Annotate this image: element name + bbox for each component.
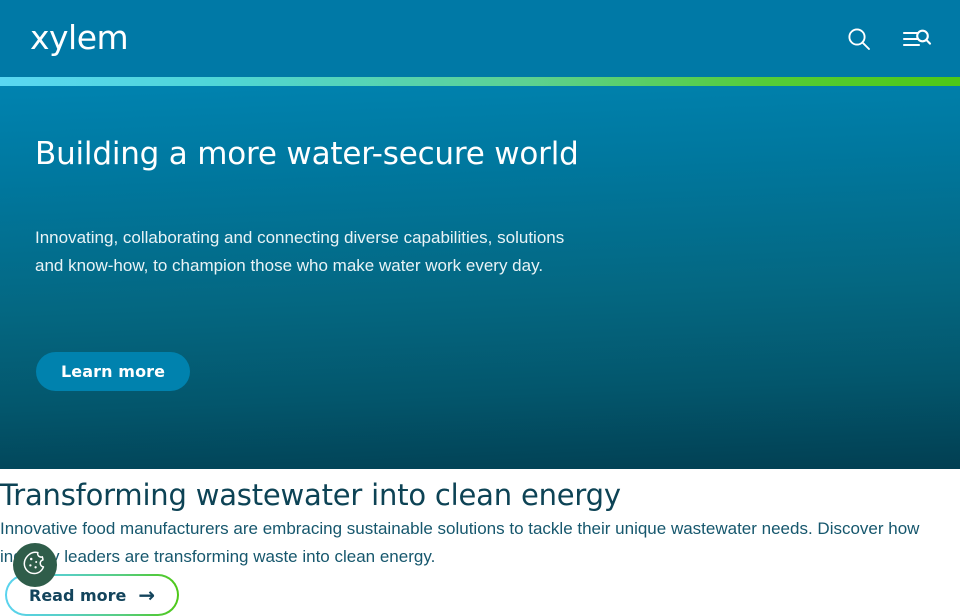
header-actions (838, 20, 938, 60)
read-more-label: Read more (29, 586, 126, 605)
menu-search-icon (902, 26, 932, 55)
brand-gradient-rule (0, 77, 960, 86)
search-button[interactable] (838, 20, 880, 60)
site-header: xylem (0, 0, 960, 77)
search-icon (846, 26, 872, 55)
learn-more-button[interactable]: Learn more (36, 352, 190, 391)
site-logo[interactable]: xylem (30, 19, 128, 57)
hero-banner: Building a more water-secure world Innov… (0, 86, 960, 469)
article-body-text: Innovative food manufacturers are embrac… (0, 515, 960, 571)
arrow-right-icon: → (138, 585, 155, 605)
menu-button[interactable] (896, 20, 938, 60)
hero-title: Building a more water-secure world (35, 134, 579, 174)
cookie-icon (21, 549, 49, 582)
cookie-preferences-button[interactable] (13, 543, 57, 587)
article-title: Transforming wastewater into clean energ… (0, 477, 621, 513)
hero-body-text: Innovating, collaborating and connecting… (35, 224, 565, 280)
